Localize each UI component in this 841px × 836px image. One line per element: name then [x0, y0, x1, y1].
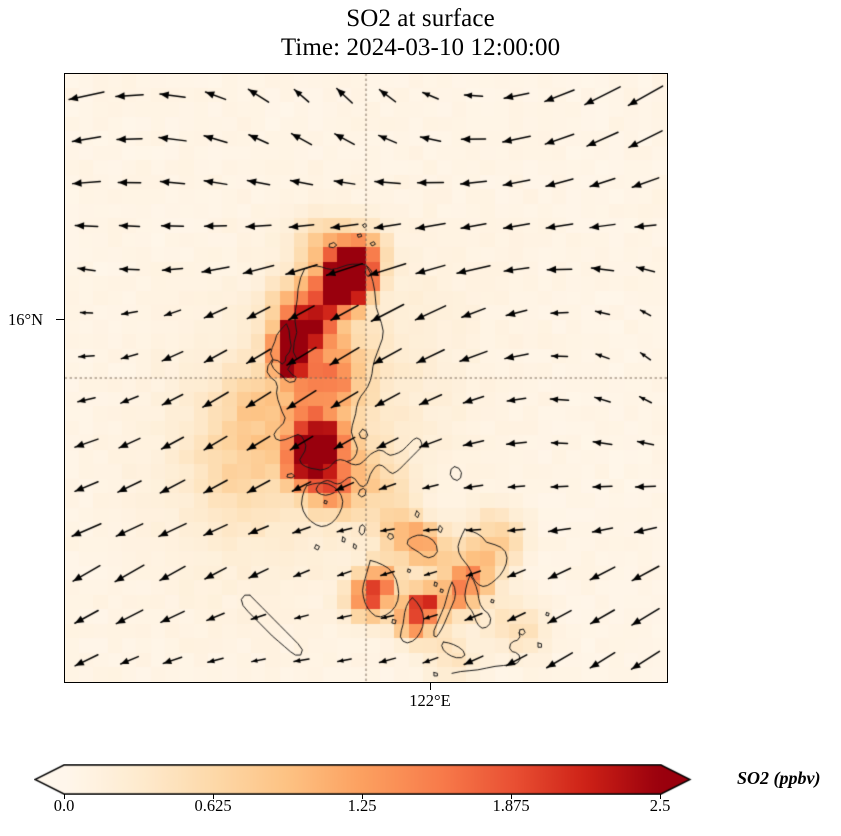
colorbar-axis-label: SO2 (ppbv): [737, 768, 821, 789]
cbar-tick-label-2: 1.25: [348, 796, 377, 816]
figure-title-main: SO2 at surface: [0, 4, 841, 33]
ytick-label-16n: 16°N: [8, 310, 43, 330]
figure-title-time: Time: 2024-03-10 12:00:00: [0, 33, 841, 62]
so2-heatmap-canvas: [65, 74, 667, 682]
map-axes: [64, 73, 668, 683]
cbar-tick-label-4: 2.5: [650, 796, 671, 816]
cbar-tick-label-1: 0.625: [194, 796, 231, 816]
xtick-label-122e: 122°E: [409, 691, 450, 711]
ytick-mark-16n: [56, 319, 64, 321]
xtick-mark-122e: [430, 682, 432, 690]
figure-so2-surface-map: SO2 at surface Time: 2024-03-10 12:00:00…: [0, 0, 841, 836]
cbar-tick-label-0: 0.0: [54, 796, 75, 816]
colorbar[interactable]: [64, 765, 661, 794]
cbar-tick-label-3: 1.875: [492, 796, 529, 816]
colorbar-gradient: [34, 764, 702, 795]
figure-title-block: SO2 at surface Time: 2024-03-10 12:00:00: [0, 4, 841, 62]
